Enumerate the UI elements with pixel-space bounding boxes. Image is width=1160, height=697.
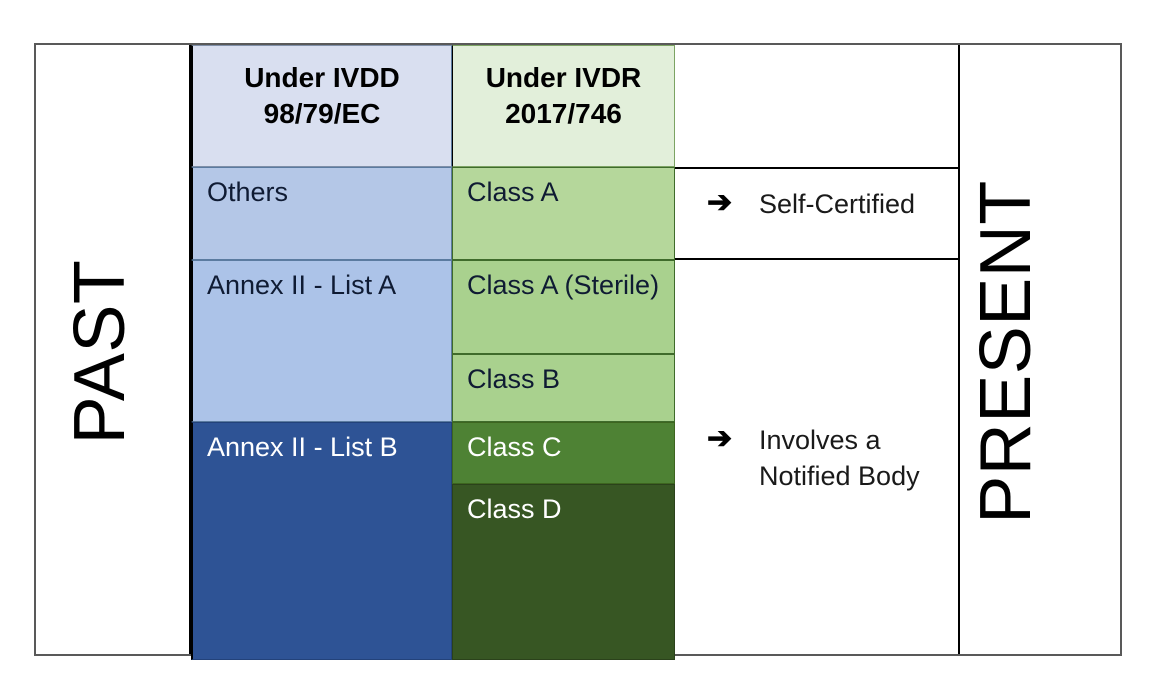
ivdr-column-header: Under IVDR 2017/746	[452, 45, 675, 167]
ivdd-header-line-2: 98/79/EC	[193, 96, 451, 132]
era-label-present: PRESENT	[951, 92, 1061, 612]
outcome-label-self-certified: Self-Certified	[759, 186, 915, 222]
ivdd-cell-annex-ii-list-a: Annex II - List A	[191, 260, 452, 422]
outcome-label-notified-body: Involves a Notified Body	[759, 422, 949, 495]
ivdd-header-line-1: Under IVDD	[193, 60, 451, 96]
ivdd-to-ivdr-classification-diagram: PAST PRESENT Under IVDD 98/79/EC Others …	[34, 43, 1122, 656]
ivdd-cell-others: Others	[191, 167, 452, 260]
ivdr-cell-class-d: Class D	[452, 484, 675, 660]
ivdr-cell-class-c: Class C	[452, 422, 675, 484]
ivdd-cell-annex-ii-list-b: Annex II - List B	[191, 422, 452, 660]
arrow-right-icon: ➔	[707, 422, 759, 457]
ivdr-header-line-2: 2017/746	[453, 96, 674, 132]
arrow-right-icon: ➔	[707, 186, 759, 221]
ivdr-cell-class-a-sterile: Class A (Sterile)	[452, 260, 675, 354]
ivdr-cell-class-a: Class A	[452, 167, 675, 260]
column-ivdr: Under IVDR 2017/746 Class A Class A (Ste…	[452, 45, 675, 660]
outcome-cell-notified-body: ➔ Involves a Notified Body	[675, 260, 958, 654]
outcome-cell-empty-header	[675, 45, 958, 167]
column-ivdd: Under IVDD 98/79/EC Others Annex II - Li…	[191, 45, 452, 660]
ivdr-cell-class-b: Class B	[452, 354, 675, 422]
outcome-cell-self-certified: ➔ Self-Certified	[675, 167, 958, 260]
divider-right-era	[958, 45, 960, 654]
ivdr-header-line-1: Under IVDR	[453, 60, 674, 96]
ivdd-column-header: Under IVDD 98/79/EC	[191, 45, 452, 167]
column-outcome: ➔ Self-Certified ➔ Involves a Notified B…	[675, 45, 958, 654]
era-label-past: PAST	[45, 92, 155, 612]
